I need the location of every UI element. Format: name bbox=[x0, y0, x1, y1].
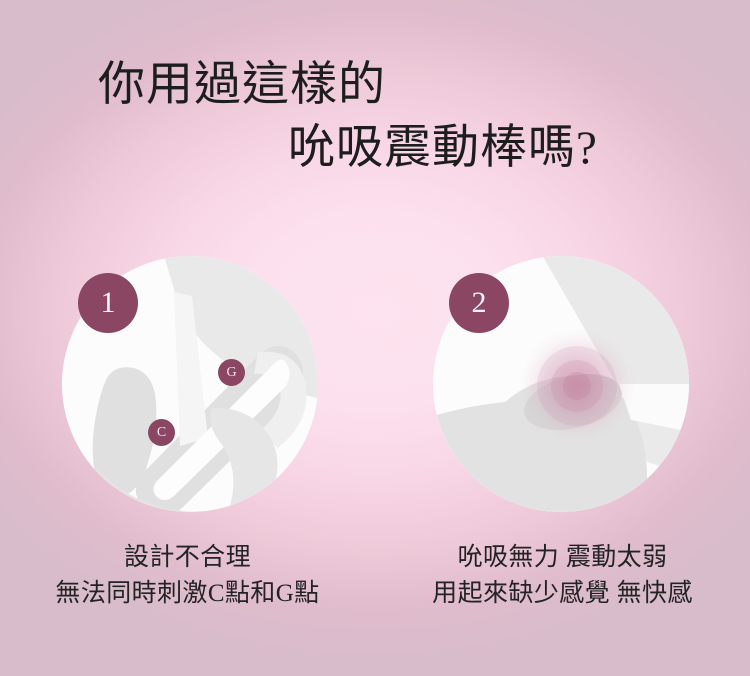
panel-2: 2 bbox=[433, 256, 689, 512]
panel-captions: 設計不合理 無法同時刺激C點和G點 吮吸無力 震動太弱 用起來缺少感覺 無快感 bbox=[0, 540, 750, 640]
panel-1: 1 G C bbox=[62, 256, 318, 512]
illustration-panels: 1 G C bbox=[0, 256, 750, 526]
panel-2-badge: 2 bbox=[449, 273, 509, 333]
headline-line-1: 你用過這樣的 bbox=[0, 54, 750, 117]
headline-line-2: 吮吸震動棒嗎? bbox=[0, 117, 750, 180]
c-spot-marker: C bbox=[148, 419, 175, 446]
panel-1-caption: 設計不合理 無法同時刺激C點和G點 bbox=[0, 540, 375, 611]
panel-1-caption-line-2: 無法同時刺激C點和G點 bbox=[0, 576, 375, 612]
panel-2-caption: 吮吸無力 震動太弱 用起來缺少感覺 無快感 bbox=[375, 540, 750, 611]
promo-banner: 你用過這樣的 吮吸震動棒嗎? bbox=[0, 0, 750, 676]
page-title: 你用過這樣的 吮吸震動棒嗎? bbox=[0, 54, 750, 179]
panel-1-caption-line-1: 設計不合理 bbox=[0, 540, 375, 576]
panel-2-caption-line-2: 用起來缺少感覺 無快感 bbox=[375, 576, 750, 612]
g-spot-marker: G bbox=[218, 359, 245, 386]
panel-1-badge: 1 bbox=[78, 273, 138, 333]
panel-2-caption-line-1: 吮吸無力 震動太弱 bbox=[375, 540, 750, 576]
